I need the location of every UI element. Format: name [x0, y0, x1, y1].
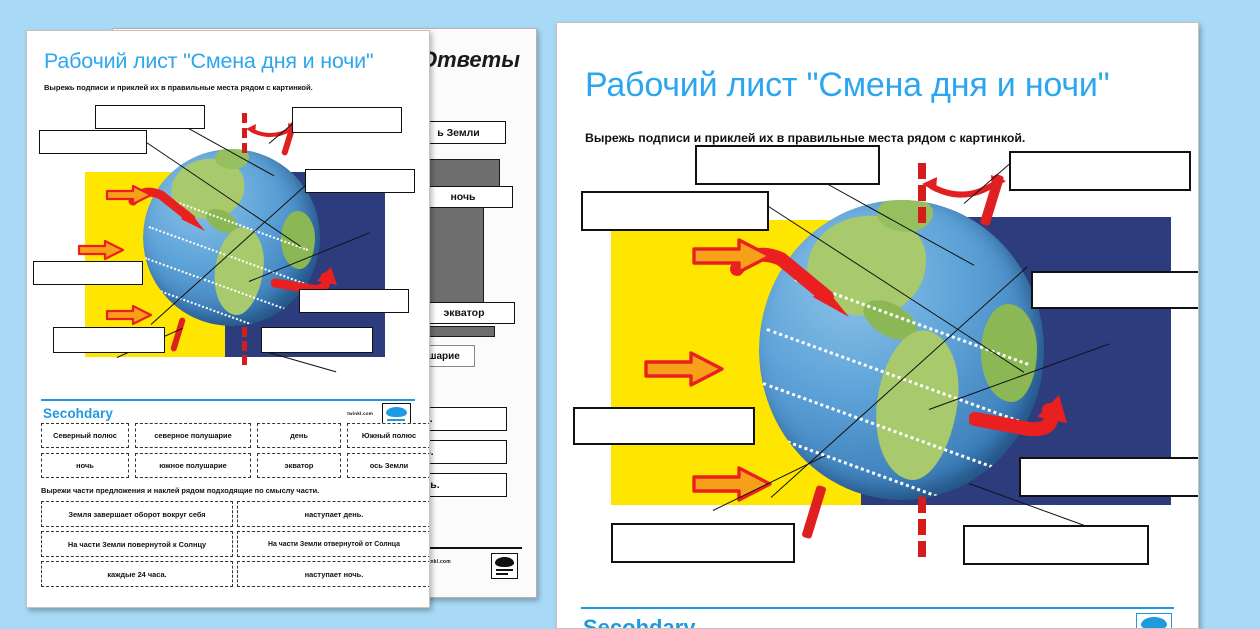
label-box-right-lower[interactable]: [299, 289, 409, 313]
label-box-top-left[interactable]: [95, 105, 205, 129]
answers-diagram-block-top: [420, 159, 500, 187]
second-instruction-left: Вырежи части предложения и наклей рядом …: [41, 486, 319, 495]
label-box-bottom-left[interactable]: [611, 523, 795, 563]
cut-word-cell[interactable]: экватор: [257, 453, 341, 478]
cut-word-cell[interactable]: северное полушарие: [135, 423, 251, 448]
sun-ray-3: [691, 465, 773, 503]
cut-sentence-cell[interactable]: каждые 24 часа.: [41, 561, 233, 587]
cut-sentence-cell[interactable]: Земля завершает оборот вокруг себя: [41, 501, 233, 527]
worksheet-page-right[interactable]: Рабочий лист "Смена дня и ночи" Вырежь п…: [556, 22, 1199, 629]
worksheet-left-content: Рабочий лист "Смена дня и ночи" Вырежь п…: [27, 31, 429, 607]
footer-rule-left: [41, 399, 415, 401]
cutout-sentences-table: Земля завершает оборот вокруг себя насту…: [41, 501, 429, 603]
footer-site-left: twinkl.com: [347, 411, 373, 416]
worksheet-right-content: Рабочий лист "Смена дня и ночи" Вырежь п…: [557, 23, 1198, 628]
day-night-diagram-left: [33, 99, 425, 389]
cut-word-cell[interactable]: южное полушарие: [135, 453, 251, 478]
cut-sentence-cell[interactable]: наступает день.: [237, 501, 429, 527]
label-box-upper-left[interactable]: [581, 191, 769, 231]
label-box-top-left[interactable]: [695, 145, 880, 185]
footer-rule-right: [581, 607, 1174, 609]
answer-label-night-text: ночь: [450, 191, 475, 203]
label-box-left-middle[interactable]: [573, 407, 755, 445]
page-instruction-left: Вырежь подписи и приклей их в правильные…: [44, 83, 313, 92]
sun-ray-1: [105, 184, 153, 206]
page-title-left: Рабочий лист "Смена дня и ночи": [44, 49, 373, 74]
footer-brand-left: Secohdary: [43, 406, 113, 421]
footer-brand-right: Secohdary: [583, 615, 696, 628]
label-box-right-upper[interactable]: [305, 169, 415, 193]
cut-word-cell[interactable]: ночь: [41, 453, 129, 478]
worksheet-page-left[interactable]: Рабочий лист "Смена дня и ночи" Вырежь п…: [26, 30, 430, 608]
cut-sentence-cell[interactable]: На части Земли отвернутой от Солнца: [237, 531, 429, 557]
sun-ray-1: [691, 237, 773, 275]
answers-diagram-block-bottom: [419, 326, 495, 337]
sun-ray-2: [77, 239, 125, 261]
label-box-right-upper[interactable]: [1031, 271, 1198, 309]
label-box-top-right[interactable]: [292, 107, 402, 133]
label-box-upper-left[interactable]: [39, 130, 147, 154]
label-box-right-lower[interactable]: [1019, 457, 1198, 497]
cut-word-cell[interactable]: Южный полюс: [347, 423, 429, 448]
label-box-top-right[interactable]: [1009, 151, 1191, 191]
cutout-words-table: Северный полюс северное полушарие день Ю…: [41, 423, 417, 481]
screenshot-stage: Ответы ь Земли ночь экватор шарие: [0, 0, 1260, 629]
cut-word-cell[interactable]: день: [257, 423, 341, 448]
cut-word-cell[interactable]: Северный полюс: [41, 423, 129, 448]
answer-label-equator-text: экватор: [443, 307, 484, 319]
label-box-bottom-right[interactable]: [261, 327, 373, 353]
rotation-arrow-lower: [969, 393, 1074, 451]
label-box-bottom-right[interactable]: [963, 525, 1149, 565]
vertical-reference-axis-bottom: [918, 497, 926, 557]
twinkl-logo: [1136, 613, 1172, 628]
cut-sentence-cell[interactable]: На части Земли повернутой к Солнцу: [41, 531, 233, 557]
label-box-left-middle[interactable]: [33, 261, 143, 285]
worksheet-right-footer: Secohdary: [557, 607, 1198, 628]
sun-ray-3: [105, 304, 153, 326]
page-title-right: Рабочий лист "Смена дня и ночи": [585, 66, 1110, 105]
cut-sentence-cell[interactable]: наступает ночь.: [237, 561, 429, 587]
answer-label-hemisphere-text: шарие: [428, 351, 460, 362]
cut-word-cell[interactable]: ось Земли: [347, 453, 429, 478]
twinkl-logo: [491, 553, 518, 579]
answer-label-axis-text: ь Земли: [437, 127, 480, 139]
label-box-bottom-left[interactable]: [53, 327, 165, 353]
vertical-reference-axis-bottom: [242, 327, 247, 365]
sun-ray-2: [643, 350, 725, 388]
answers-page-title: Ответы: [420, 47, 520, 73]
page-instruction-right: Вырежь подписи и приклей их в правильные…: [585, 131, 1025, 145]
day-night-diagram-right: [581, 145, 1198, 595]
